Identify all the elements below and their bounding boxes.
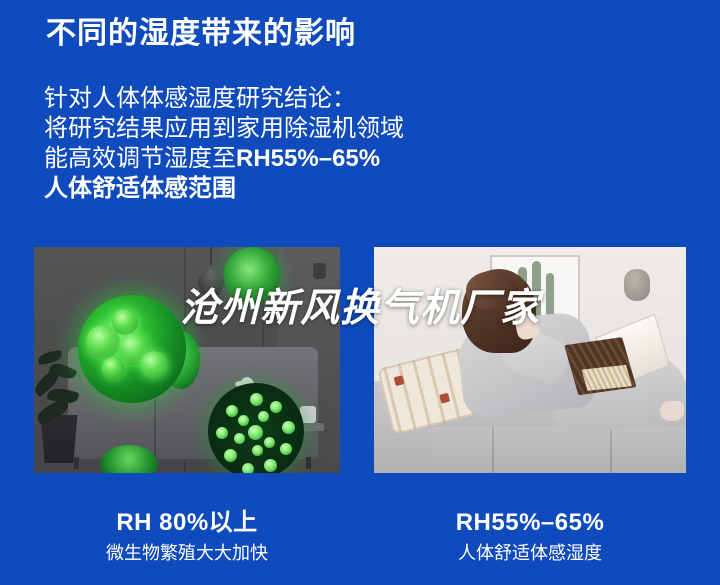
sofa-leg <box>74 457 79 469</box>
intro-line-3-emphasis: RH55%–65% <box>236 145 380 172</box>
microbe-cell <box>140 351 168 379</box>
virus-spike <box>258 411 269 422</box>
virus-spike <box>252 445 263 456</box>
microbe-cell <box>102 357 124 379</box>
virus-spike <box>264 437 275 448</box>
virus-spike <box>242 463 254 473</box>
virus-spike <box>234 433 245 444</box>
virus-spike <box>226 405 238 417</box>
caption-right: RH55%–65% 人体舒适体感湿度 <box>374 508 686 566</box>
pillow-motif <box>394 375 405 386</box>
intro-text-block: 针对人体体感湿度研究结论： 将研究结果应用到家用除湿机领域 能高效调节湿度至RH… <box>44 84 404 204</box>
microbe-virus <box>208 383 304 473</box>
virus-spike <box>224 449 237 462</box>
virus-spike <box>250 393 263 406</box>
watermark-text: 沧州新风换气机厂家 <box>0 277 720 333</box>
virus-core <box>248 425 263 440</box>
virus-spike <box>216 427 228 439</box>
caption-right-heading: RH55%–65% <box>374 508 686 538</box>
pillow-motif <box>439 393 450 404</box>
intro-line-1: 针对人体体感湿度研究结论： <box>44 84 404 114</box>
caption-left: RH 80%以上 微生物繁殖大大加快 <box>34 508 340 566</box>
person-foot <box>660 401 684 421</box>
caption-left-subtext: 微生物繁殖大大加快 <box>34 540 340 566</box>
intro-line-4: 人体舒适体感范围 <box>44 174 404 204</box>
virus-spike <box>238 415 249 426</box>
sofa-leg <box>306 457 311 469</box>
poster-root: 不同的湿度带来的影响 针对人体体感湿度研究结论： 将研究结果应用到家用除湿机领域… <box>0 0 720 585</box>
virus-spike <box>270 401 282 413</box>
intro-line-3: 能高效调节湿度至RH55%–65% <box>44 144 404 174</box>
caption-right-subtext: 人体舒适体感湿度 <box>374 540 686 566</box>
caption-left-heading: RH 80%以上 <box>34 508 340 538</box>
virus-spike <box>264 459 277 472</box>
sofa-seam <box>492 427 494 473</box>
page-title: 不同的湿度带来的影响 <box>46 17 356 50</box>
book-page-edges <box>582 365 632 391</box>
virus-spike <box>282 421 295 434</box>
sofa-seam <box>154 399 156 457</box>
intro-line-2: 将研究结果应用到家用除湿机领域 <box>44 114 404 144</box>
sofa-seam <box>610 427 612 473</box>
intro-line-3-text: 能高效调节湿度至 <box>44 145 236 172</box>
virus-spike <box>280 443 292 455</box>
